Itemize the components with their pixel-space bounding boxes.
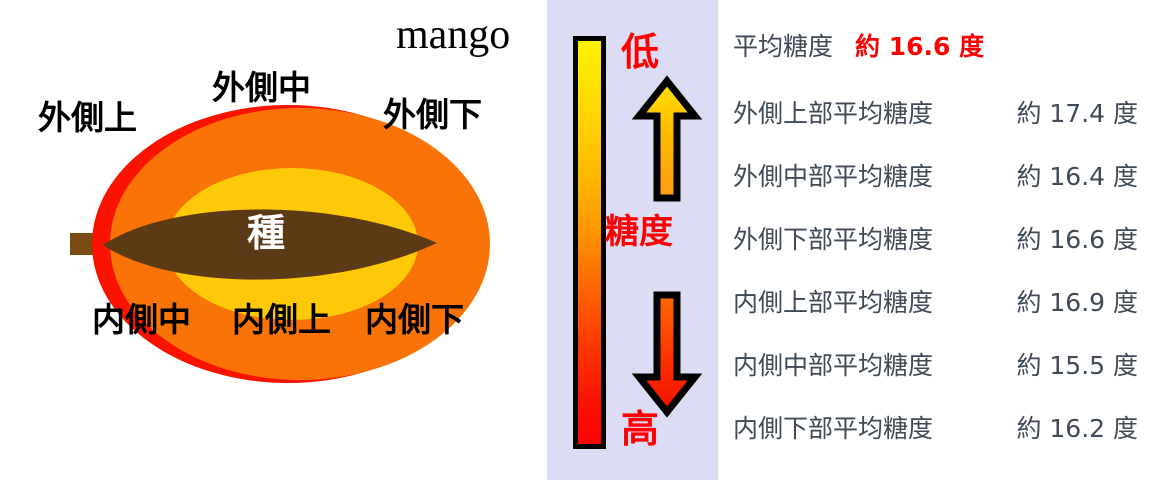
region-label-inner-middle: 内側中 [92,303,191,336]
sweetness-gradient-bar [573,36,606,449]
sweetness-scale-panel: 低 糖度 高 [547,0,718,480]
readout-row-outer-upper: 外側上部平均糖度 約 17.4 度 [733,95,1158,129]
readout-value: 約 16.4 度 [1016,157,1158,193]
mango-sweetness-infographic: mango 外側上 外側中 外側下 内側中 内側上 内側下 種 [0,0,1168,480]
readout-value: 約 17.4 度 [1016,94,1158,130]
readout-label: 外側中部平均糖度 [733,157,933,193]
down-arrow-icon [639,295,695,412]
readout-label: 外側下部平均糖度 [733,220,933,256]
region-label-outer-lower: 外側下 [383,98,482,131]
scale-low-label: 低 [621,33,659,71]
readout-label: 内側上部平均糖度 [733,283,933,319]
readout-value: 約 16.9 度 [1016,283,1158,319]
readout-value: 約 16.6 度 [855,27,984,63]
readout-row-outer-middle: 外側中部平均糖度 約 16.4 度 [733,158,1158,192]
readout-row-average: 平均糖度 約 16.6 度 [733,28,984,62]
sweetness-readout-panel: 平均糖度 約 16.6 度 外側上部平均糖度 約 17.4 度 外側中部平均糖度… [718,0,1168,480]
readout-row-inner-lower: 内側下部平均糖度 約 16.2 度 [733,410,1158,444]
mango-diagram-panel: mango 外側上 外側中 外側下 内側中 内側上 内側下 種 [0,0,547,480]
readout-label: 内側中部平均糖度 [733,346,933,382]
readout-row-inner-upper: 内側上部平均糖度 約 16.9 度 [733,284,1158,318]
scale-unit-label: 糖度 [605,215,673,249]
readout-label: 内側下部平均糖度 [733,409,933,445]
readout-value: 約 16.2 度 [1016,409,1158,445]
region-label-outer-middle: 外側中 [212,71,311,104]
readout-value: 約 15.5 度 [1016,346,1158,382]
readout-label: 外側上部平均糖度 [733,94,933,130]
region-label-inner-upper: 内側上 [232,303,331,336]
region-label-outer-upper: 外側上 [38,101,137,134]
readout-value: 約 16.6 度 [1016,220,1158,256]
readout-row-inner-middle: 内側中部平均糖度 約 15.5 度 [733,347,1158,381]
readout-row-outer-lower: 外側下部平均糖度 約 16.6 度 [733,221,1158,255]
scale-high-label: 高 [621,410,659,448]
seed-label: 種 [247,214,285,252]
up-arrow-icon [639,81,695,198]
mango-title: mango [396,14,510,56]
region-label-inner-lower: 内側下 [365,303,464,336]
readout-label: 平均糖度 [733,27,833,63]
